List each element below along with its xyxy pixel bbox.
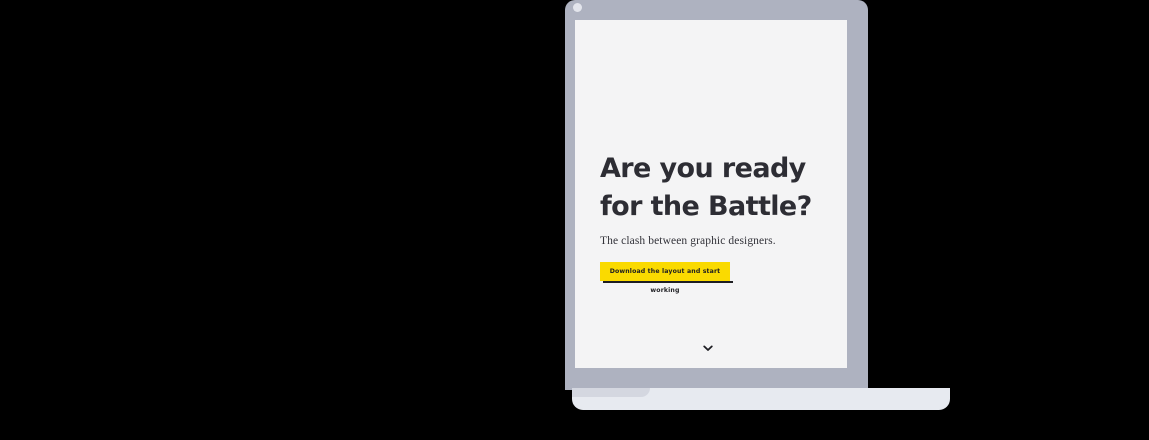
hero-section: Are you ready for the Battle? The clash … xyxy=(600,150,847,281)
laptop-base-notch xyxy=(572,388,650,397)
hero-subtitle: The clash between graphic designers. xyxy=(600,234,847,248)
screenshot-canvas: Are you ready for the Battle? The clash … xyxy=(0,0,1149,440)
page-title: Are you ready for the Battle? xyxy=(600,150,847,226)
laptop-mockup: Are you ready for the Battle? The clash … xyxy=(0,0,1149,440)
laptop-hinge xyxy=(565,368,868,390)
download-layout-button[interactable]: Download the layout and start working xyxy=(600,262,730,281)
laptop-screen: Are you ready for the Battle? The clash … xyxy=(575,20,847,368)
chevron-down-icon[interactable] xyxy=(701,341,715,355)
webcam-dot xyxy=(573,3,582,12)
cta-wrapper: Download the layout and start working xyxy=(600,262,730,281)
